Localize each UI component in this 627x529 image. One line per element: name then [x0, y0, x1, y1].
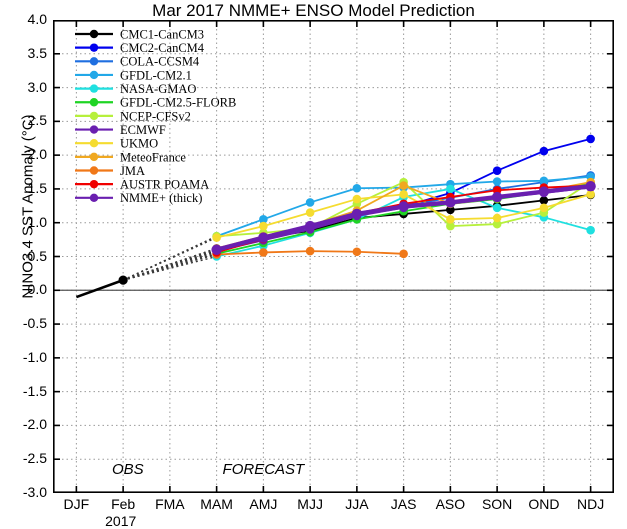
legend-item[interactable]: AUSTR POAMA: [75, 178, 209, 192]
legend-item[interactable]: COLA-CCSM4: [75, 55, 200, 69]
legend-item[interactable]: NASA-GMAO: [75, 82, 196, 96]
spread-guide-line: [123, 238, 217, 281]
y-tick-label: 1.5: [1, 180, 47, 196]
legend-label: NCEP-CFSv2: [120, 109, 191, 123]
data-point: [493, 204, 502, 213]
legend-item[interactable]: ECMWF: [75, 123, 166, 137]
legend-label: CMC1-CanCM3: [120, 27, 204, 41]
legend-swatch-marker: [90, 139, 98, 147]
observed-line: [76, 280, 123, 297]
y-tick-label: 4.0: [1, 11, 47, 27]
y-tick-label: 0.0: [1, 281, 47, 297]
data-point: [445, 197, 455, 207]
legend-item[interactable]: GFDL-CM2.5-FLORB: [75, 96, 236, 110]
data-point: [212, 233, 221, 242]
data-point: [305, 221, 315, 231]
data-point: [540, 204, 549, 213]
data-point: [306, 198, 315, 207]
legend-label: AUSTR POAMA: [120, 178, 209, 192]
legend-item[interactable]: JMA: [75, 164, 145, 178]
legend-swatch-marker: [90, 112, 98, 120]
legend-label: GFDL-CM2.1: [120, 68, 192, 82]
legend-item[interactable]: UKMO: [75, 137, 158, 151]
y-tick-label: 0.5: [1, 248, 47, 264]
data-point: [399, 249, 408, 258]
legend-swatch-marker: [90, 43, 98, 51]
legend-swatch-marker: [90, 30, 98, 38]
data-point: [258, 232, 268, 242]
legend-label: UKMO: [120, 137, 158, 151]
legend-swatch-marker: [90, 125, 98, 133]
data-point: [352, 209, 362, 219]
chart-title: Mar 2017 NMME+ ENSO Model Prediction: [0, 1, 627, 21]
observed-point: [119, 276, 128, 285]
data-point: [306, 208, 315, 217]
data-point: [353, 184, 362, 193]
data-point: [399, 181, 408, 190]
y-tick-label: 2.5: [1, 112, 47, 128]
data-point: [399, 190, 408, 199]
data-point: [353, 195, 362, 204]
annotation-obs: OBS: [112, 461, 144, 478]
legend-item[interactable]: MeteoFrance: [75, 150, 186, 164]
data-point: [446, 215, 455, 224]
data-point: [259, 248, 268, 257]
legend-swatch-marker: [90, 84, 98, 92]
legend-label: COLA-CCSM4: [120, 55, 200, 69]
data-point: [353, 247, 362, 256]
legend-item[interactable]: CMC1-CanCM3: [75, 27, 204, 41]
legend-swatch-marker: [90, 166, 98, 174]
y-tick-label: 3.0: [1, 79, 47, 95]
legend-swatch-marker: [90, 57, 98, 65]
legend-label: GFDL-CM2.5-FLORB: [120, 96, 236, 110]
legend-swatch-marker: [90, 180, 98, 188]
data-point: [398, 201, 408, 211]
data-point: [259, 222, 268, 231]
y-tick-label: 3.5: [1, 45, 47, 61]
data-point: [493, 177, 502, 186]
legend-swatch-marker: [90, 153, 98, 161]
data-point: [493, 214, 502, 223]
data-point: [586, 226, 595, 235]
data-point: [446, 185, 455, 194]
legend-swatch-marker: [90, 98, 98, 106]
x-tick-label: NDJ: [561, 496, 621, 512]
y-tick-label: -0.5: [1, 315, 47, 331]
legend-label: MeteoFrance: [120, 150, 186, 164]
chart-root: Mar 2017 NMME+ ENSO Model Prediction NIN…: [0, 0, 627, 528]
data-point: [540, 147, 549, 156]
legend-swatch-marker: [90, 71, 98, 79]
y-tick-label: -2.5: [1, 450, 47, 466]
data-point: [585, 181, 595, 191]
y-tick-label: 2.0: [1, 146, 47, 162]
legend-label: CMC2-CanCM4: [120, 41, 205, 55]
annotation-forecast: FORECAST: [223, 461, 307, 478]
data-point: [492, 192, 502, 202]
y-tick-label: 1.0: [1, 214, 47, 230]
legend-item[interactable]: GFDL-CM2.1: [75, 68, 192, 82]
legend-swatch-marker: [90, 194, 98, 202]
y-tick-label: -2.0: [1, 416, 47, 432]
y-tick-label: -1.0: [1, 349, 47, 365]
y-tick-label: -1.5: [1, 383, 47, 399]
legend-item[interactable]: NCEP-CFSv2: [75, 109, 191, 123]
legend-label: ECMWF: [120, 123, 166, 137]
data-point: [493, 166, 502, 175]
enso-prediction-plot: OBSFORECASTCMC1-CanCM3CMC2-CanCM4COLA-CC…: [53, 20, 614, 493]
legend-label: JMA: [120, 164, 145, 178]
legend-label: NASA-GMAO: [120, 82, 196, 96]
data-point: [540, 196, 549, 205]
x-axis-year-label: 2017: [105, 513, 136, 529]
y-tick-label: -3.0: [1, 484, 47, 500]
legend-item[interactable]: NMME+ (thick): [75, 191, 202, 205]
data-point: [586, 135, 595, 144]
data-point: [539, 186, 549, 196]
legend-item[interactable]: CMC2-CanCM4: [75, 41, 205, 55]
data-point: [211, 245, 221, 255]
legend-label: NMME+ (thick): [120, 191, 202, 205]
data-point: [306, 247, 315, 256]
plot-area: OBSFORECASTCMC1-CanCM3CMC2-CanCM4COLA-CC…: [53, 20, 614, 493]
